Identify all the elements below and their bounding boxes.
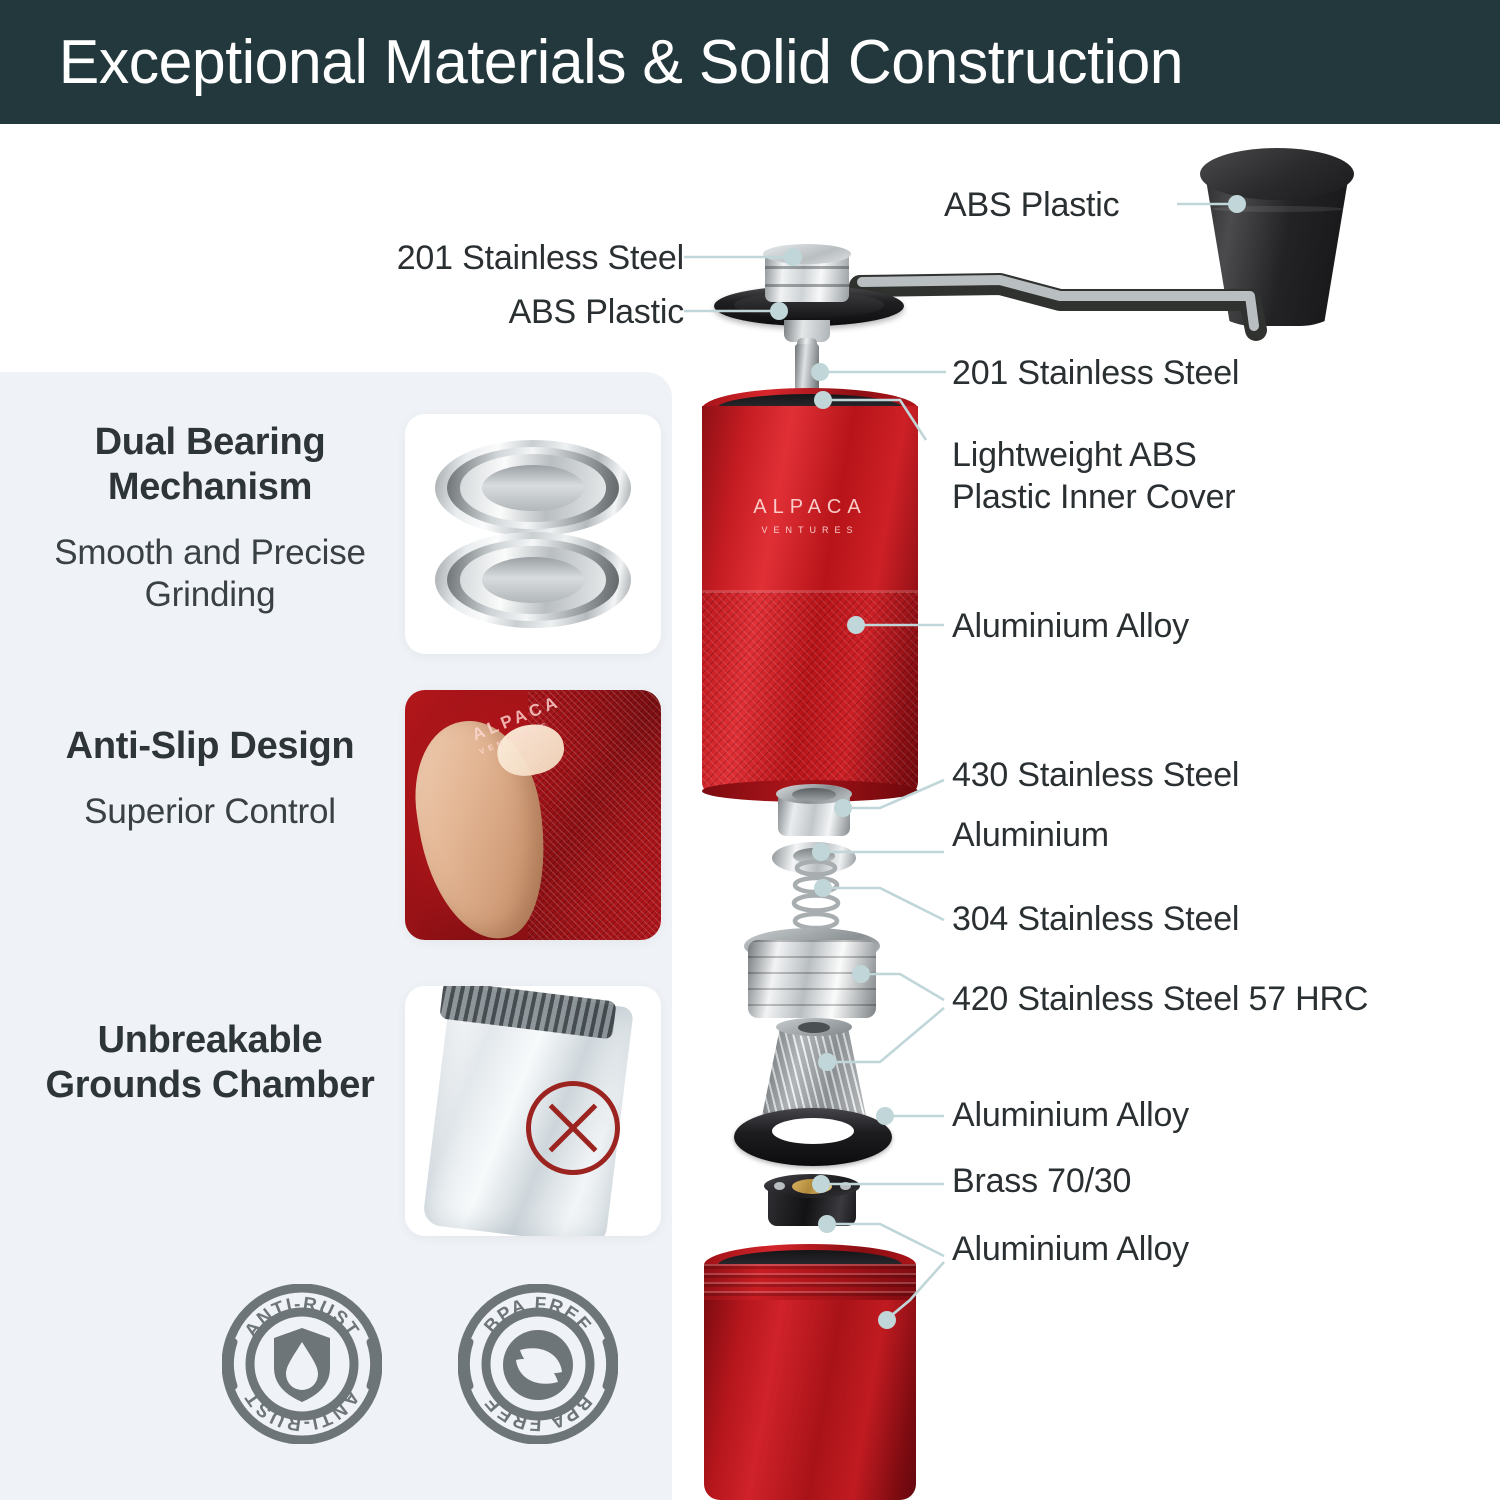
glass-jar-photo: [405, 986, 661, 1236]
callout-spring: 304 Stainless Steel: [952, 898, 1239, 940]
callout-washer: Aluminium: [952, 814, 1109, 856]
bearing-ring-hole: [792, 788, 836, 801]
body-knurled-grip: [702, 592, 918, 796]
infographic-canvas: Exceptional Materials & Solid Constructi…: [0, 0, 1500, 1500]
callout-burrs: 420 Stainless Steel 57 HRC: [952, 978, 1368, 1020]
bearing-lower-icon: [435, 532, 631, 628]
conical-burr: [762, 1024, 866, 1116]
crank-knob-top: [1200, 148, 1354, 200]
feature-title: Unbreakable Grounds Chamber: [40, 1018, 380, 1108]
puck-screw-icon: [840, 1182, 851, 1190]
callout-cap-disc: ABS Plastic: [314, 291, 684, 333]
callout-body: Aluminium Alloy: [952, 605, 1189, 647]
feature-subtitle: Smooth and Precise Grinding: [40, 532, 380, 616]
callout-brass: Brass 70/30: [952, 1160, 1131, 1202]
callout-cap-nut: 201 Stainless Steel: [314, 237, 684, 279]
cap-nut-top: [763, 244, 851, 264]
brand-logo: ALPACA VENTURES: [702, 496, 918, 535]
conical-burr-hole: [798, 1022, 830, 1033]
callout-knob: ABS Plastic: [944, 184, 1119, 226]
puck-screw-icon: [774, 1182, 785, 1190]
outer-burr-ring: [748, 940, 876, 1018]
grounds-chamber-body: [704, 1300, 916, 1500]
badge-bpa-free: BPA FREE BPA FREE: [458, 1284, 618, 1444]
brass-insert: [792, 1179, 832, 1194]
feature-title: Dual Bearing Mechanism: [40, 420, 380, 510]
bearing-upper-icon: [435, 440, 631, 536]
dual-bearing-photo: [405, 414, 661, 654]
cap-nut-groove: [765, 266, 849, 269]
feature-subtitle: Superior Control: [40, 791, 380, 833]
callout-shaft: 201 Stainless Steel: [952, 352, 1239, 394]
callout-inner-cover: Lightweight ABS Plastic Inner Cover: [952, 434, 1235, 518]
page-title: Exceptional Materials & Solid Constructi…: [0, 27, 1183, 98]
callout-chamber: Aluminium Alloy: [952, 1228, 1189, 1270]
brand-tagline: VENTURES: [702, 525, 918, 535]
callout-bearing: 430 Stainless Steel: [952, 754, 1239, 796]
cap-nut-groove: [765, 284, 849, 287]
prohibited-icon: [526, 1081, 620, 1175]
washer-hole: [793, 848, 835, 864]
brand-name: ALPACA: [702, 496, 918, 519]
anti-slip-grip-photo: ALPACA VENTURES: [405, 690, 661, 940]
feature-title: Anti-Slip Design: [40, 724, 380, 769]
certification-badges: ANTI-RUST ANTI-RUST BPA FR: [222, 1284, 642, 1464]
crank-knob-seam: [1212, 206, 1344, 212]
black-mount-ring-hole: [772, 1118, 854, 1144]
badge-anti-rust: ANTI-RUST ANTI-RUST: [222, 1284, 382, 1444]
callout-black-ring: Aluminium Alloy: [952, 1094, 1189, 1136]
header-banner: Exceptional Materials & Solid Constructi…: [0, 0, 1500, 124]
